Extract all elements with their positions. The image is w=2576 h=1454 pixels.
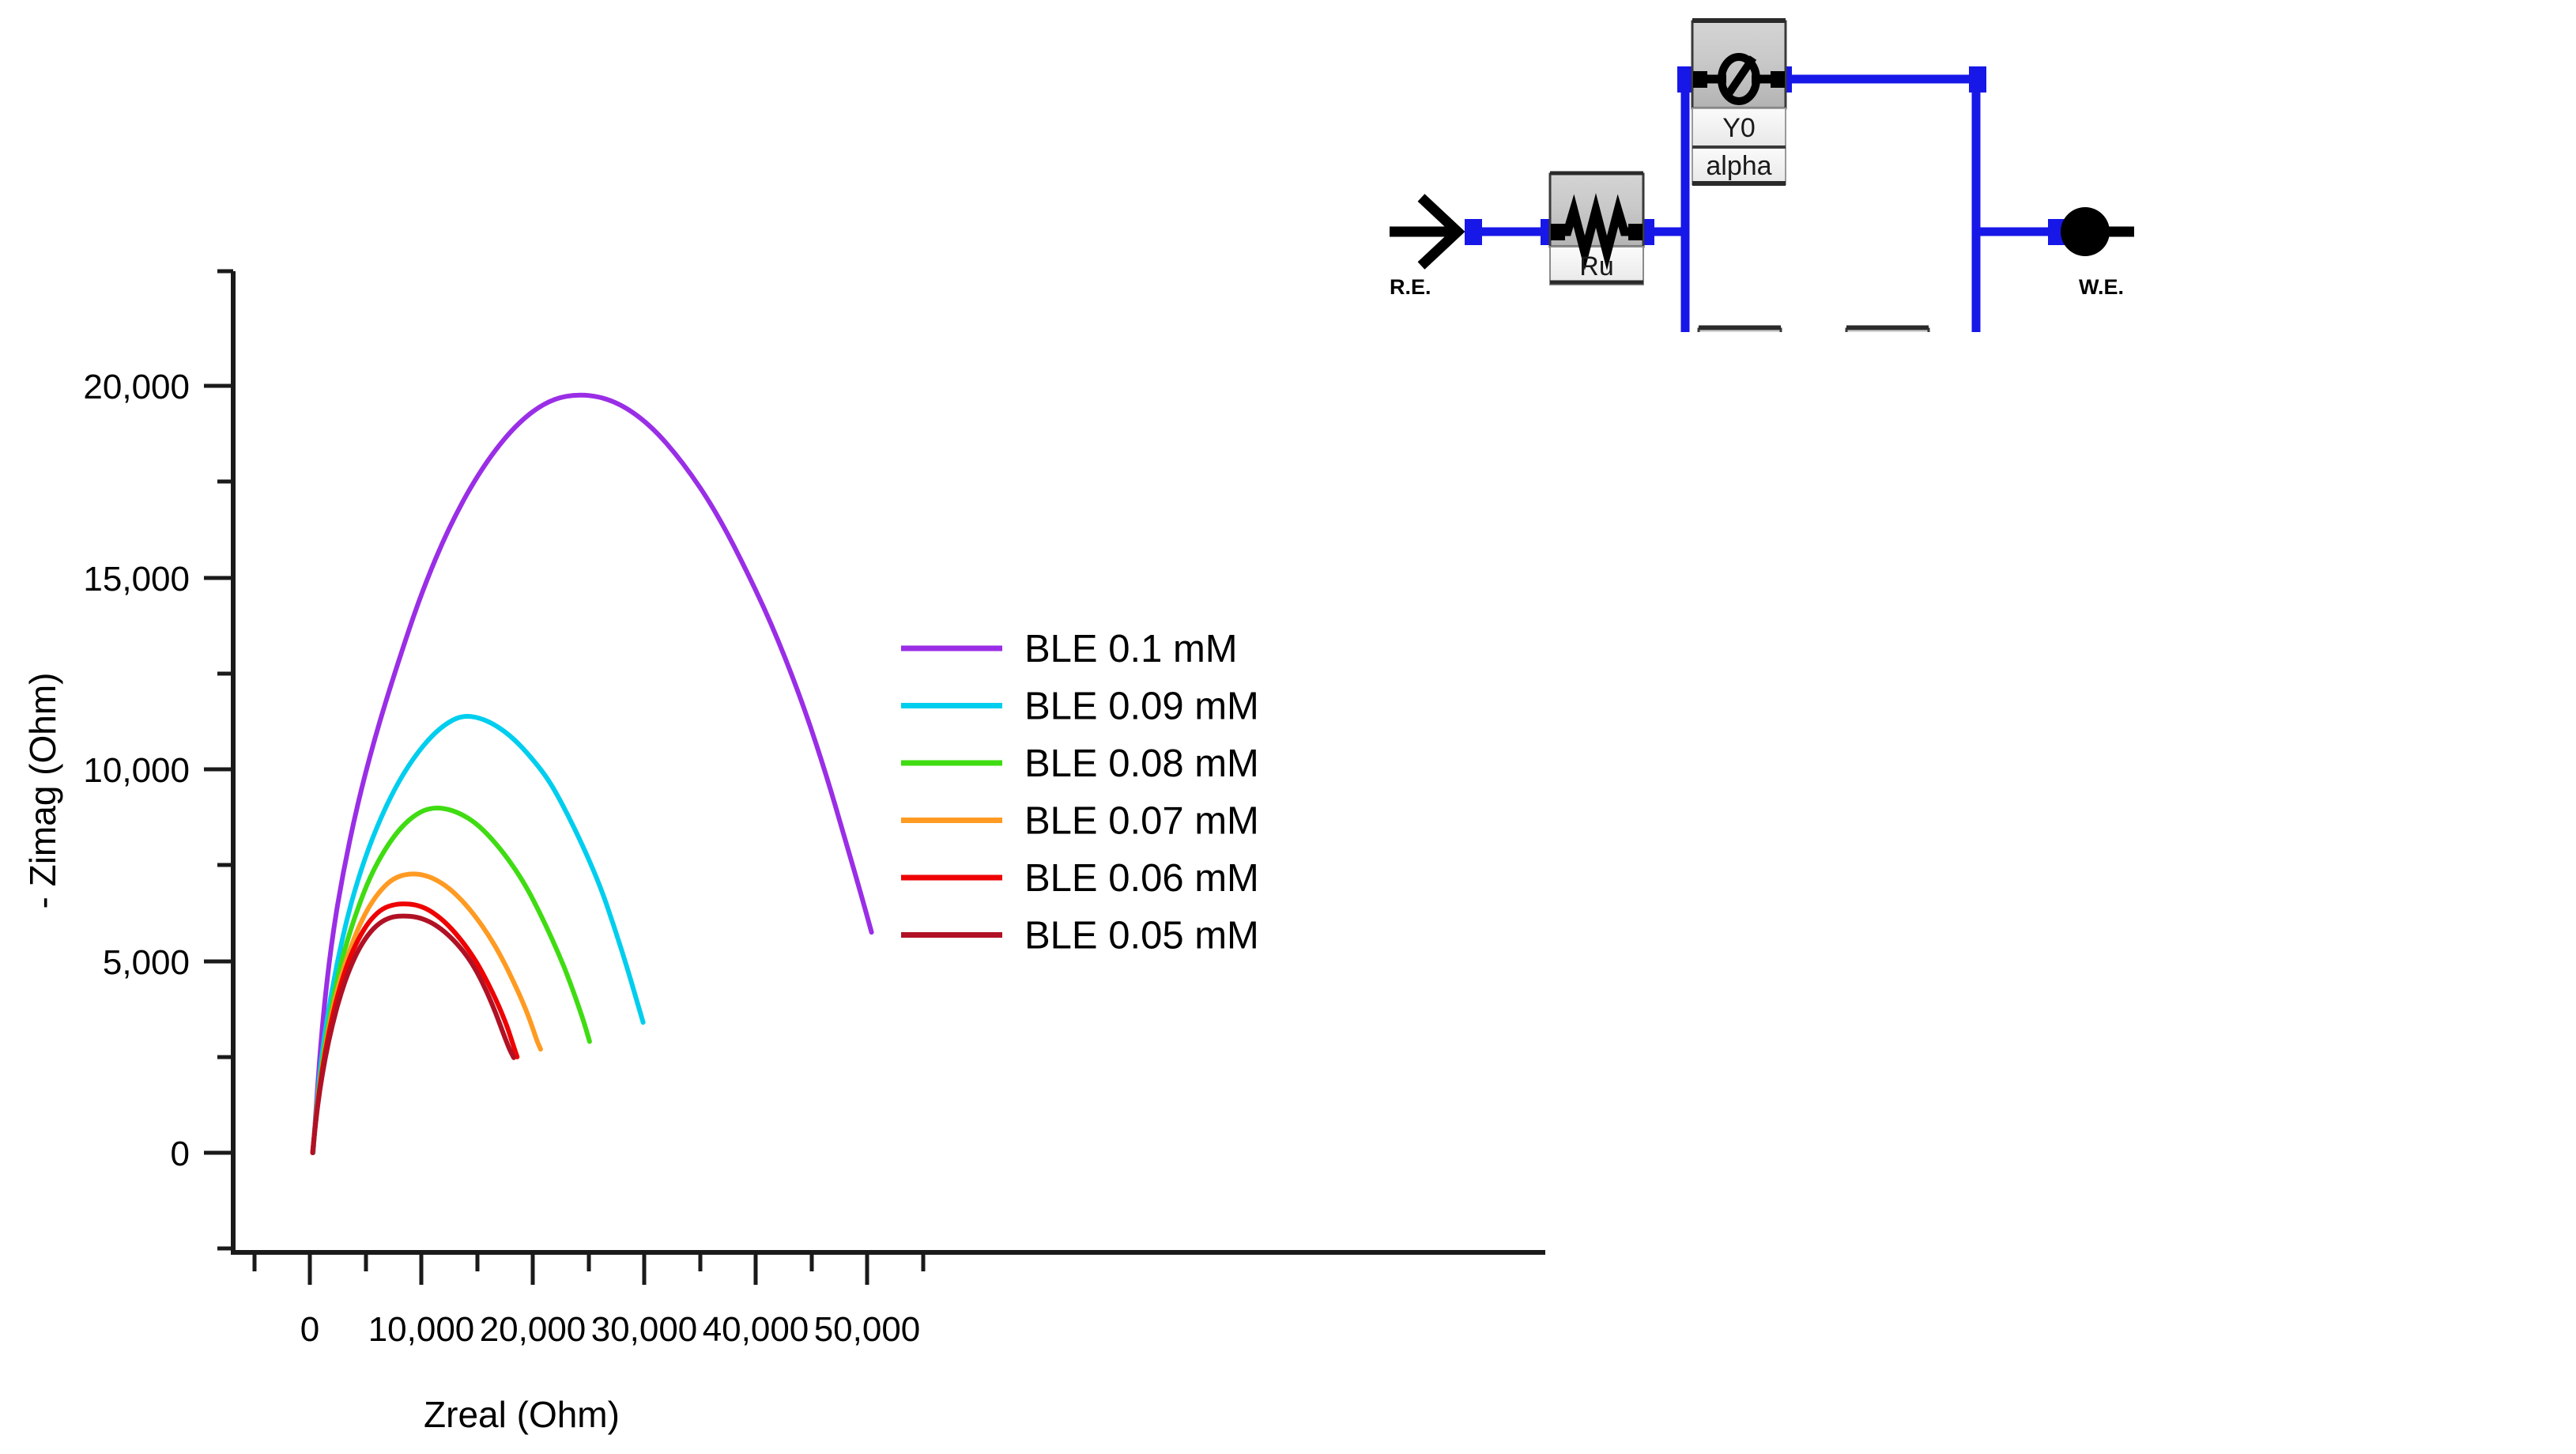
terminal-we[interactable]: W.E. <box>2061 207 2134 299</box>
plot-svg: 20,000 15,000 10,000 5,000 0 0 10,000 20… <box>0 0 1581 1454</box>
x-tick-label: 40,000 <box>703 1310 809 1349</box>
legend-label: BLE 0.1 mM <box>1024 628 1238 670</box>
y-tick-label: 10,000 <box>83 751 190 790</box>
circuit-element-cpe[interactable]: Y0 alpha <box>1692 21 1786 184</box>
x-axis-title: Zreal (Ohm) <box>424 1394 620 1435</box>
legend-label: BLE 0.06 mM <box>1024 857 1259 900</box>
legend-label: BLE 0.05 mM <box>1024 915 1259 957</box>
y-tick-labels: 20,000 15,000 10,000 5,000 0 <box>83 368 190 1173</box>
circuit-element-ru-label: Ru <box>1579 251 1613 281</box>
x-tick-label: 0 <box>300 1310 319 1349</box>
data-curves <box>313 395 872 1153</box>
x-minor-ticks <box>255 1252 923 1271</box>
x-tick-label: 50,000 <box>814 1310 921 1349</box>
legend-label: BLE 0.08 mM <box>1024 742 1259 785</box>
terminal-we-label: W.E. <box>2079 275 2124 299</box>
terminal-re-label: R.E. <box>1390 275 1431 299</box>
x-tick-label: 10,000 <box>368 1310 475 1349</box>
legend: BLE 0.1 mMBLE 0.09 mMBLE 0.08 mMBLE 0.07… <box>901 628 1259 957</box>
equivalent-circuit-diagram: R.E. W.E. Ru <box>1375 0 2576 332</box>
y-tick-label: 5,000 <box>103 943 190 982</box>
x-tick-label: 20,000 <box>480 1310 586 1349</box>
figure-root: 20,000 15,000 10,000 5,000 0 0 10,000 20… <box>0 0 2576 1454</box>
y-tick-label: 15,000 <box>83 560 190 599</box>
legend-label: BLE 0.09 mM <box>1024 685 1259 728</box>
circuit-svg: R.E. W.E. Ru <box>1375 0 2576 332</box>
circuit-element-rp[interactable]: Rp <box>1699 327 1781 332</box>
circuit-element-ru[interactable]: Ru <box>1550 173 1643 285</box>
y-tick-label: 0 <box>171 1135 190 1173</box>
circuit-element-cpe-label-alpha: alpha <box>1706 151 1771 181</box>
x-tick-labels: 0 10,000 20,000 30,000 40,000 50,000 <box>300 1310 921 1349</box>
circuit-element-cpe-label-y0: Y0 <box>1722 113 1756 143</box>
y-tick-label: 20,000 <box>83 368 190 406</box>
nyquist-plot: 20,000 15,000 10,000 5,000 0 0 10,000 20… <box>0 0 1581 1454</box>
x-tick-label: 30,000 <box>591 1310 698 1349</box>
series-curve <box>313 395 871 1153</box>
terminal-re[interactable]: R.E. <box>1390 198 1458 299</box>
y-major-ticks <box>204 386 233 1153</box>
legend-label: BLE 0.07 mM <box>1024 800 1259 843</box>
circuit-element-wd[interactable]: Wd <box>1846 327 1929 332</box>
y-axis-title: - Zimag (Ohm) <box>22 673 63 909</box>
series-curve <box>313 808 590 1153</box>
